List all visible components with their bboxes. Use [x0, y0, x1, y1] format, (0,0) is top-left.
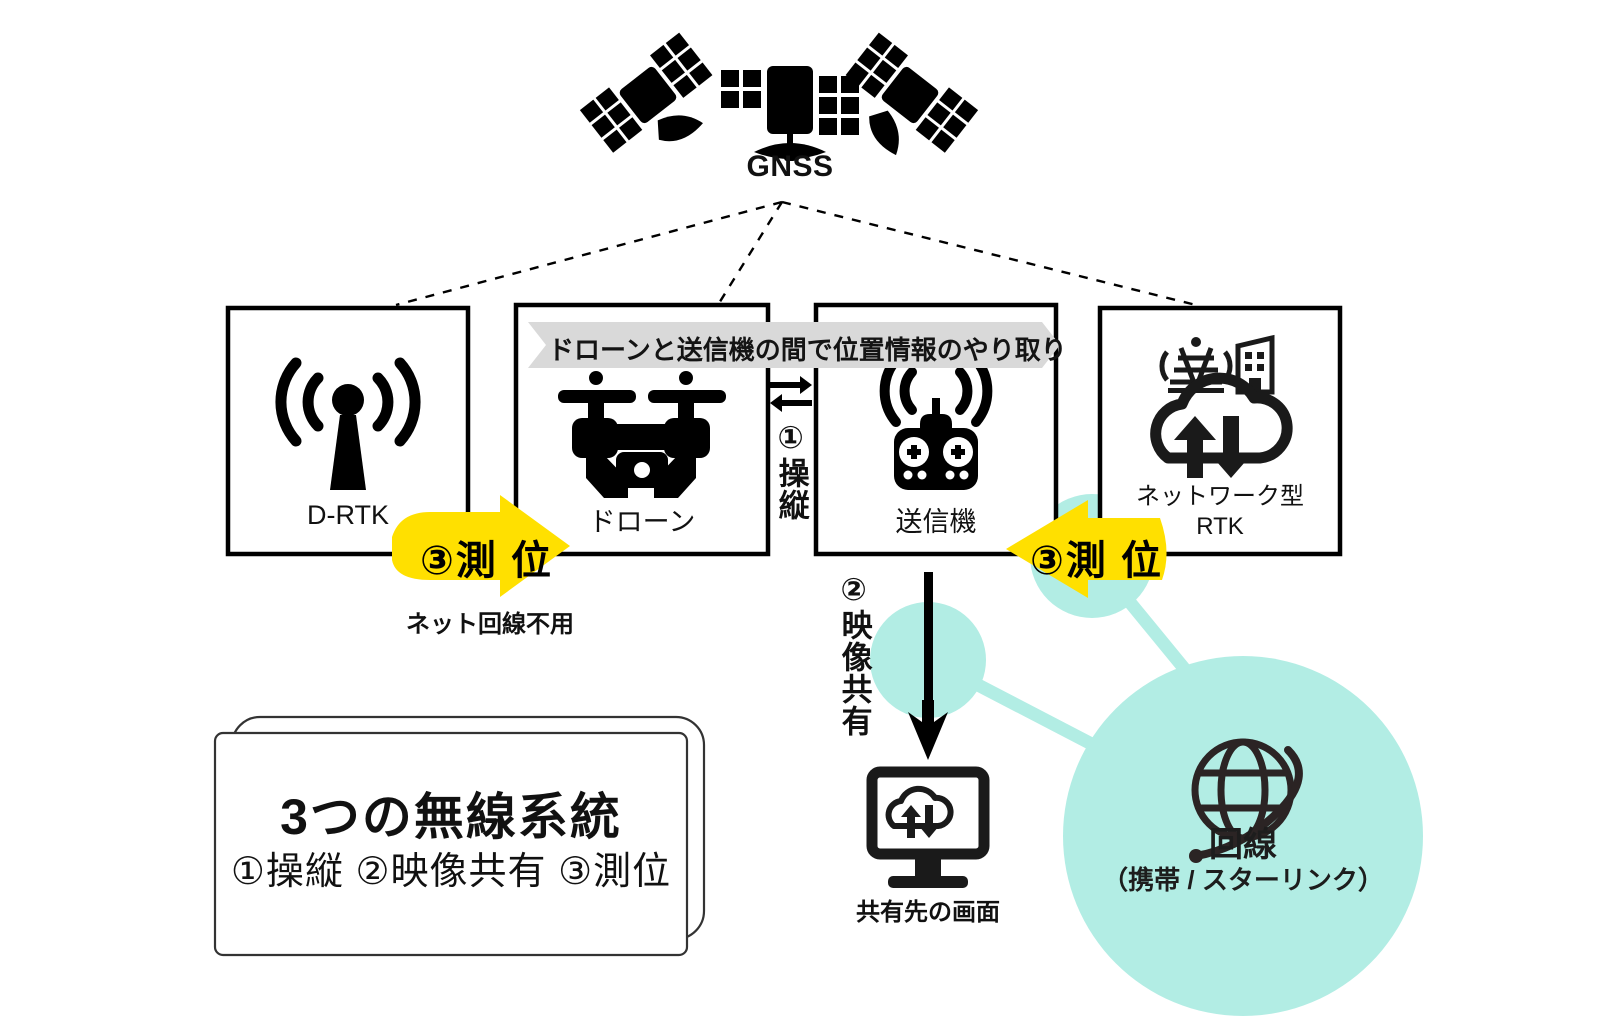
box-label-d-rtk: D-RTK: [228, 500, 468, 531]
gnss-label: GNSS: [690, 150, 890, 184]
ribbon-label: ドローンと送信機の間で位置情報のやり取り: [548, 330, 1067, 367]
positioning-arrow-right-label: ③測 位: [1030, 528, 1163, 586]
box-label-transmitter: 送信機: [816, 500, 1056, 539]
link-video-label: ②映像共有: [838, 572, 870, 737]
link-control-label: ①操縦: [775, 420, 807, 521]
legend-title: 3つの無線系統: [215, 790, 687, 845]
bidirectional-arrows-icon: [770, 376, 812, 412]
monitor-label: 共有先の画面: [828, 892, 1028, 927]
box-label-drone: ドローン: [516, 500, 768, 539]
line-circle-title: 回線: [1103, 826, 1383, 865]
positioning-arrow-left-label: ③測 位: [420, 528, 553, 586]
positioning-left-caption: ネット回線不用: [360, 604, 620, 639]
gnss-dashed-links: [396, 202, 1196, 308]
diagram-canvas: GNSS ドローンと送信機の間で位置情報のやり取り D-RTK ドローン 送信機…: [0, 0, 1600, 1024]
box-label-network-rtk-line1: ネットワーク型: [1100, 482, 1340, 512]
legend-subtitle: ①操縦 ②映像共有 ③測位: [215, 852, 687, 894]
monitor-cloud-icon: [872, 772, 984, 888]
line-circle-subtitle: （携帯 / スターリンク）: [1093, 866, 1393, 896]
